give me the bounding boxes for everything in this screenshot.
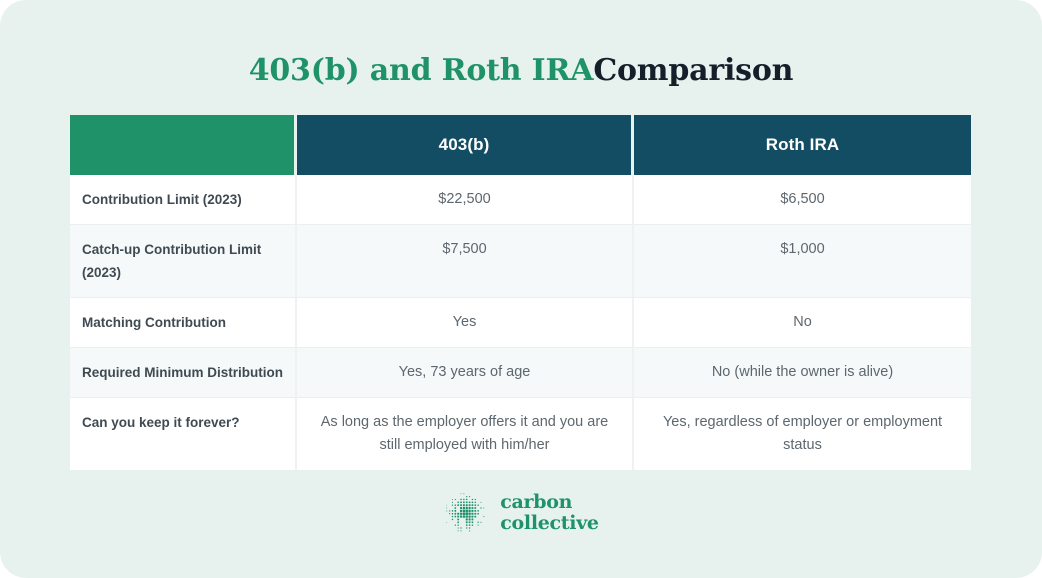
table-row: Catch-up Contribution Limit (2023) $7,50… (70, 225, 971, 298)
row-value-roth-rmd: No (while the owner is alive) (634, 348, 971, 398)
row-value-roth-matching-contribution: No (634, 298, 971, 348)
table-header-403b: 403(b) (297, 115, 634, 175)
brand-logo-text: carbon collective (500, 492, 598, 534)
comparison-infographic: 403(b) and Roth IRAComparison 403(b) Rot… (0, 0, 1042, 578)
table-row: Matching Contribution Yes No (70, 298, 971, 348)
comparison-table: 403(b) Roth IRA Contribution Limit (2023… (70, 115, 971, 470)
row-value-roth-contribution-limit: $6,500 (634, 175, 971, 225)
halftone-dot-circle-icon (443, 490, 489, 536)
table-header-row: 403(b) Roth IRA (70, 115, 971, 175)
brand-logo: carbon collective (0, 490, 1042, 536)
row-label-contribution-limit: Contribution Limit (2023) (70, 175, 297, 225)
row-label-keep-it-forever: Can you keep it forever? (70, 398, 297, 470)
page-title: 403(b) and Roth IRAComparison (0, 52, 1042, 90)
brand-logo-line1: carbon (500, 492, 598, 513)
table-row: Can you keep it forever? As long as the … (70, 398, 971, 470)
row-label-required-minimum-distribution: Required Minimum Distribution (70, 348, 297, 398)
row-value-403b-contribution-limit: $22,500 (297, 175, 634, 225)
row-value-403b-catchup-limit: $7,500 (297, 225, 634, 298)
table-row: Required Minimum Distribution Yes, 73 ye… (70, 348, 971, 398)
row-label-matching-contribution: Matching Contribution (70, 298, 297, 348)
table-header-blank-cell (70, 115, 297, 175)
page-title-green-part: 403(b) and Roth IRA (249, 53, 594, 88)
page-title-dark-part: Comparison (593, 53, 793, 88)
row-value-403b-matching-contribution: Yes (297, 298, 634, 348)
row-value-403b-keep-forever: As long as the employer offers it and yo… (297, 398, 634, 470)
row-value-403b-rmd: Yes, 73 years of age (297, 348, 634, 398)
table-body: Contribution Limit (2023) $22,500 $6,500… (70, 175, 971, 470)
table-row: Contribution Limit (2023) $22,500 $6,500 (70, 175, 971, 225)
brand-logo-line2: collective (500, 513, 598, 534)
row-value-roth-keep-forever: Yes, regardless of employer or employmen… (634, 398, 971, 470)
table-header: 403(b) Roth IRA (70, 115, 971, 175)
table-header-roth-ira: Roth IRA (634, 115, 971, 175)
row-label-catchup-contribution-limit: Catch-up Contribution Limit (2023) (70, 225, 297, 298)
row-value-roth-catchup-limit: $1,000 (634, 225, 971, 298)
